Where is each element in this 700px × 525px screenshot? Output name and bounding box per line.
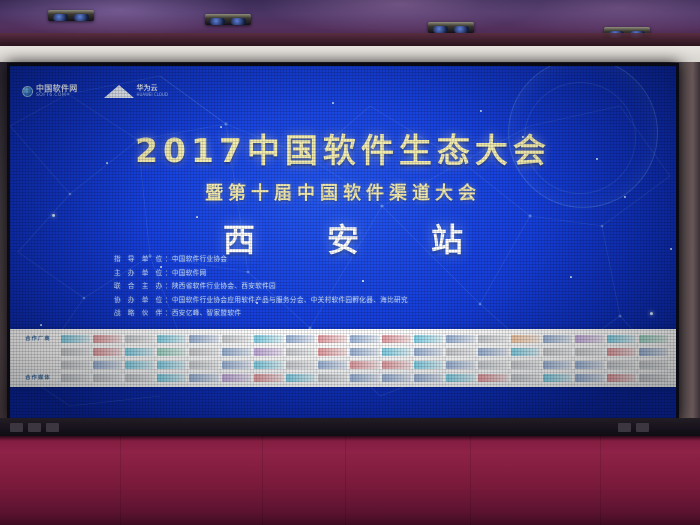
sponsor-logo — [511, 374, 540, 382]
ceiling-light-4 — [604, 27, 650, 38]
sponsor-logo — [446, 335, 475, 343]
credit-line: 协 办 单 位：中国软件行业协会应用软件产品与服务分会、中关村软件园孵化器、海比… — [114, 294, 408, 308]
sponsor-logo — [478, 348, 507, 356]
sponsor-logo — [511, 348, 540, 356]
sponsor-logo-wall: 合作厂商 合作媒体 — [10, 329, 676, 387]
sponsor-logo — [350, 335, 379, 343]
sponsor-logo — [189, 348, 218, 356]
logo-wall-row-label: 合作媒体 — [18, 374, 58, 381]
sponsor-logo — [382, 374, 411, 382]
conference-hall-scene: 中国软件网 SOFT6.COM 华为云 HUAWEI CLOUD 2017中国软… — [0, 0, 700, 525]
sponsor-logo — [414, 348, 443, 356]
sponsor-logo — [254, 335, 283, 343]
event-title-main: 2017中国软件生态大会 — [10, 124, 676, 172]
sponsor-logo — [222, 361, 251, 369]
sponsor-logo — [125, 361, 154, 369]
sponsor-logo — [93, 348, 122, 356]
sponsor-logo — [318, 348, 347, 356]
sponsor-logo — [607, 348, 636, 356]
sponsor-logo — [575, 348, 604, 356]
sponsor-logo — [286, 374, 315, 382]
ceiling-light-3 — [428, 22, 474, 33]
sponsor-logo — [254, 361, 283, 369]
sponsor-logo — [61, 374, 90, 382]
organizer-credits: 指 导 单 位：中国软件行业协会 主 办 单 位：中国软件网 联 合 主 办：陕… — [114, 253, 408, 321]
sponsor-logo — [222, 335, 251, 343]
sponsor-logo — [61, 335, 90, 343]
sponsor-logo — [543, 374, 572, 382]
sponsor-logo — [318, 335, 347, 343]
sponsor-logo — [478, 374, 507, 382]
sponsor-logo — [639, 335, 668, 343]
sponsor-logo — [318, 361, 347, 369]
sponsor-logo — [286, 348, 315, 356]
sponsor-logo — [414, 374, 443, 382]
sponsor-logo — [607, 361, 636, 369]
logo-wall-row-logos — [61, 358, 668, 371]
sponsor-logo — [286, 335, 315, 343]
sponsor-logo — [189, 361, 218, 369]
sponsor-logo — [350, 361, 379, 369]
screen-bottom-bezel — [0, 418, 700, 438]
credit-line: 指 导 单 位：中国软件行业协会 — [114, 253, 408, 267]
sponsor-logo — [125, 374, 154, 382]
sponsor-logo — [254, 348, 283, 356]
sponsor-logo — [639, 348, 668, 356]
sponsor-logo — [254, 374, 283, 382]
sponsor-logo — [93, 335, 122, 343]
logo-wall-row: 合作厂商 — [18, 332, 668, 345]
sponsor-logo — [350, 348, 379, 356]
sponsor-logo — [125, 335, 154, 343]
sponsor-logo — [93, 361, 122, 369]
sponsor-logo — [575, 361, 604, 369]
sponsor-logo — [639, 361, 668, 369]
sponsor-logo — [414, 361, 443, 369]
sponsor-logo — [157, 374, 186, 382]
sponsor-logo — [543, 361, 572, 369]
logo-wall-row-logos — [61, 371, 668, 384]
sponsor-logo — [93, 374, 122, 382]
sponsor-logo — [575, 374, 604, 382]
sponsor-logo — [607, 335, 636, 343]
credit-label: 联 合 主 办 — [114, 282, 165, 290]
credit-label: 主 办 单 位 — [114, 269, 165, 277]
logo-wall-row-logos — [61, 345, 668, 358]
sponsor-logo — [446, 374, 475, 382]
event-title-block: 2017中国软件生态大会 暨第十届中国软件渠道大会 西 安 站 — [10, 66, 676, 261]
logo-wall-row-label: 合作厂商 — [18, 335, 58, 342]
sponsor-logo — [575, 335, 604, 343]
sponsor-logo — [639, 374, 668, 382]
sponsor-logo — [414, 335, 443, 343]
credit-label: 指 导 单 位 — [114, 255, 165, 263]
credit-value: 陕西省软件行业协会、西安软件园 — [172, 282, 276, 290]
sponsor-logo — [543, 335, 572, 343]
credit-value: 中国软件行业协会应用软件产品与服务分会、中关村软件园孵化器、海比研究 — [172, 296, 408, 304]
sponsor-logo — [125, 348, 154, 356]
sponsor-logo — [61, 361, 90, 369]
logo-wall-row: 合作媒体 — [18, 371, 668, 384]
sponsor-logo — [157, 348, 186, 356]
ceiling — [0, 0, 700, 46]
sponsor-logo — [189, 335, 218, 343]
logo-wall-row-logos — [61, 332, 668, 345]
credit-value: 中国软件行业协会 — [172, 255, 228, 263]
sponsor-logo — [157, 335, 186, 343]
sponsor-logo — [189, 374, 218, 382]
sponsor-logo — [607, 374, 636, 382]
stage-skirt — [0, 436, 700, 525]
led-screen-frame: 中国软件网 SOFT6.COM 华为云 HUAWEI CLOUD 2017中国软… — [7, 63, 679, 421]
credit-value: 中国软件网 — [172, 269, 207, 277]
logo-wall-row — [18, 358, 668, 371]
ceiling-light-2 — [205, 14, 251, 25]
led-screen: 中国软件网 SOFT6.COM 华为云 HUAWEI CLOUD 2017中国软… — [10, 66, 676, 418]
sponsor-logo — [222, 348, 251, 356]
sponsor-logo — [543, 348, 572, 356]
sponsor-logo — [511, 335, 540, 343]
event-title-sub: 暨第十届中国软件渠道大会 — [10, 179, 676, 205]
ceiling-light-1 — [48, 10, 94, 21]
credit-value: 西安亿峰、智家盟软件 — [172, 309, 241, 317]
sponsor-logo — [61, 348, 90, 356]
sponsor-logo — [446, 348, 475, 356]
sponsor-logo — [382, 335, 411, 343]
sponsor-logo — [157, 361, 186, 369]
sponsor-logo — [478, 335, 507, 343]
credit-label: 战 略 伙 伴 — [114, 309, 165, 317]
credit-label: 协 办 单 位 — [114, 296, 165, 304]
sponsor-logo — [318, 374, 347, 382]
sponsor-logo — [511, 361, 540, 369]
sponsor-logo — [222, 374, 251, 382]
sponsor-logo — [382, 361, 411, 369]
credit-line: 战 略 伙 伴：西安亿峰、智家盟软件 — [114, 307, 408, 321]
sponsor-logo — [286, 361, 315, 369]
sponsor-logo — [478, 361, 507, 369]
logo-wall-row — [18, 345, 668, 358]
sponsor-logo — [382, 348, 411, 356]
credit-line: 联 合 主 办：陕西省软件行业协会、西安软件园 — [114, 280, 408, 294]
sponsor-logo — [350, 374, 379, 382]
sponsor-logo — [446, 361, 475, 369]
credit-line: 主 办 单 位：中国软件网 — [114, 267, 408, 281]
